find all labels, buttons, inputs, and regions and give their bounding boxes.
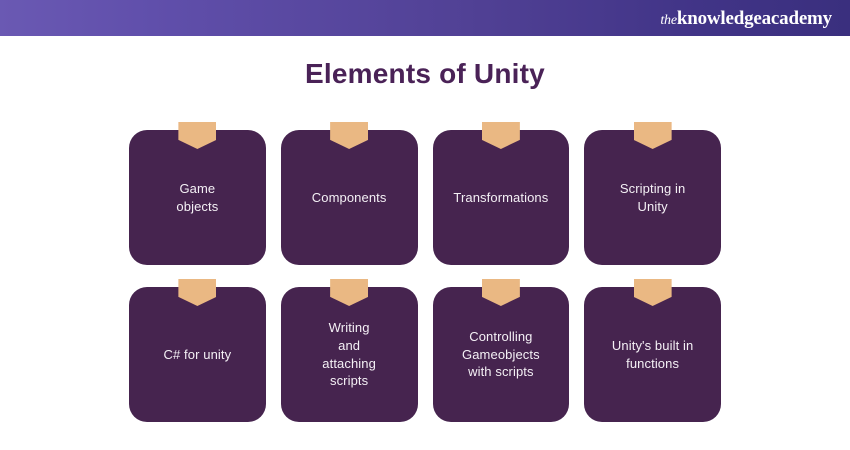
bookmark-ribbon-icon: [330, 122, 368, 149]
bookmark-ribbon-icon: [634, 279, 672, 306]
bookmark-ribbon-icon: [482, 279, 520, 306]
card-game-objects[interactable]: Game objects: [129, 130, 266, 265]
card-label: Scripting in Unity: [620, 180, 686, 216]
card-label: Unity's built in functions: [612, 337, 693, 373]
bookmark-ribbon-icon: [178, 279, 216, 306]
brand-logo: theknowledgeacademy: [660, 9, 850, 28]
top-header-bar: theknowledgeacademy: [0, 0, 850, 36]
card-label: Components: [312, 189, 387, 207]
brand-logo-name: knowledgeacademy: [677, 8, 832, 29]
bookmark-ribbon-icon: [330, 279, 368, 306]
card-label: Transformations: [453, 189, 548, 207]
card-label: C# for unity: [164, 346, 232, 364]
card-unity-built-in-functions[interactable]: Unity's built in functions: [584, 287, 721, 422]
card-row-1: Game objects Components Transformations …: [129, 130, 721, 265]
card-csharp-for-unity[interactable]: C# for unity: [129, 287, 266, 422]
card-label: Controlling Gameobjects with scripts: [462, 328, 540, 382]
elements-card-grid: Game objects Components Transformations …: [129, 130, 721, 422]
page-title: Elements of Unity: [0, 58, 850, 90]
brand-logo-the: the: [660, 13, 677, 28]
card-label: Writing and attaching scripts: [322, 319, 376, 391]
bookmark-ribbon-icon: [178, 122, 216, 149]
card-label: Game objects: [176, 180, 218, 216]
card-components[interactable]: Components: [281, 130, 418, 265]
card-row-2: C# for unity Writing and attaching scrip…: [129, 287, 721, 422]
bookmark-ribbon-icon: [634, 122, 672, 149]
bookmark-ribbon-icon: [482, 122, 520, 149]
card-controlling-gameobjects-with-scripts[interactable]: Controlling Gameobjects with scripts: [433, 287, 570, 422]
card-transformations[interactable]: Transformations: [433, 130, 570, 265]
card-writing-and-attaching-scripts[interactable]: Writing and attaching scripts: [281, 287, 418, 422]
card-scripting-in-unity[interactable]: Scripting in Unity: [584, 130, 721, 265]
